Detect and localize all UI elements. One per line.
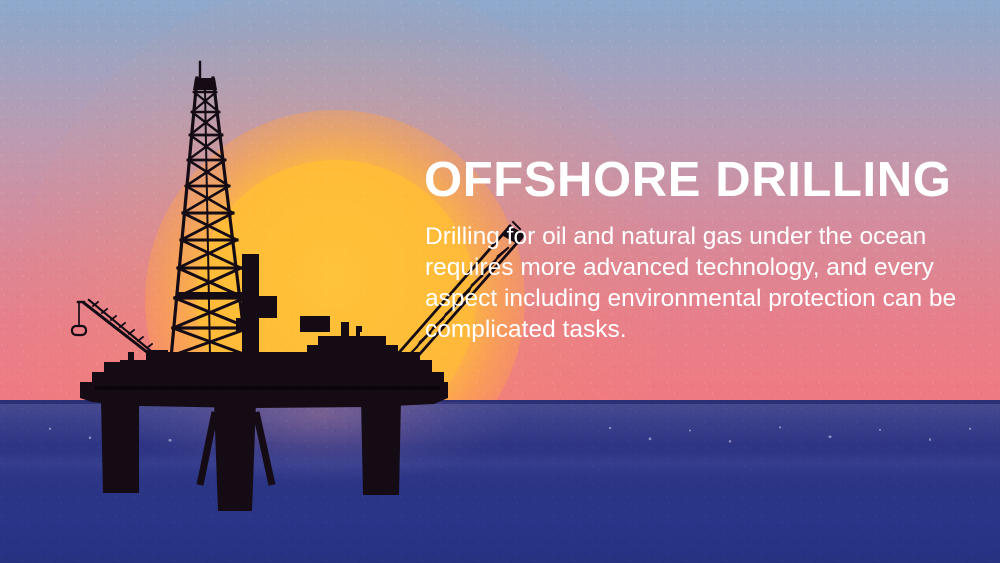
page-title: OFFSHORE DRILLING (424, 156, 969, 205)
derrick-tower (171, 62, 249, 358)
offshore-drilling-banner: OFFSHORE DRILLING Drilling for oil and n… (0, 0, 1000, 563)
body-paragraph: Drilling for oil and natural gas under t… (425, 221, 965, 345)
platform-deck (80, 316, 448, 408)
exhaust-stack (242, 254, 277, 358)
deck-figures (260, 365, 275, 373)
text-block: OFFSHORE DRILLING Drilling for oil and n… (424, 156, 969, 345)
support-legs (101, 398, 401, 511)
